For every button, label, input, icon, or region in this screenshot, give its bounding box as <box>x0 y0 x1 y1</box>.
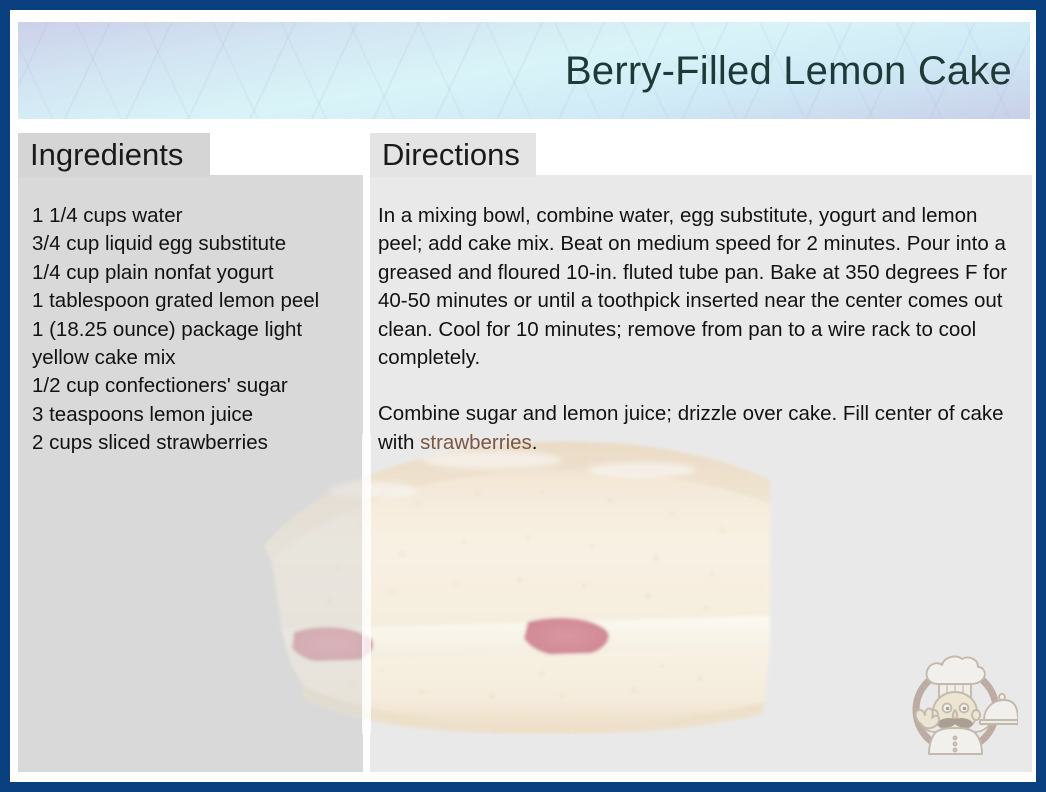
ingredient-item: 1 1/4 cups water <box>32 202 350 230</box>
section-header-directions: Directions <box>370 133 536 177</box>
recipe-card: Berry-Filled Lemon Cake <box>0 0 1046 792</box>
ingredients-heading-label: Ingredients <box>30 137 183 173</box>
ingredient-item: 1 tablespoon grated lemon peel <box>32 287 350 315</box>
strawberries-link[interactable]: strawberries <box>420 431 532 454</box>
directions-paragraph-1: In a mixing bowl, combine water, egg sub… <box>378 202 1022 372</box>
ingredient-item: 1/4 cup plain nonfat yogurt <box>32 259 350 287</box>
section-header-ingredients: Ingredients <box>18 133 210 177</box>
directions-text: In a mixing bowl, combine water, egg sub… <box>378 202 1022 457</box>
directions-paragraph-2-tail: . <box>532 431 538 454</box>
directions-heading-label: Directions <box>382 137 520 173</box>
title-banner: Berry-Filled Lemon Cake <box>18 22 1030 119</box>
ingredient-item: 1 (18.25 ounce) package light yellow cak… <box>32 316 350 373</box>
ingredient-item: 1/2 cup confectioners' sugar <box>32 372 350 400</box>
ingredients-list: 1 1/4 cups water 3/4 cup liquid egg subs… <box>32 202 350 458</box>
ingredient-item: 2 cups sliced strawberries <box>32 429 350 457</box>
page-title: Berry-Filled Lemon Cake <box>565 49 1012 93</box>
ingredient-item: 3/4 cup liquid egg substitute <box>32 230 350 258</box>
directions-paragraph-2: Combine sugar and lemon juice; drizzle o… <box>378 400 1022 457</box>
ingredient-item: 3 teaspoons lemon juice <box>32 401 350 429</box>
